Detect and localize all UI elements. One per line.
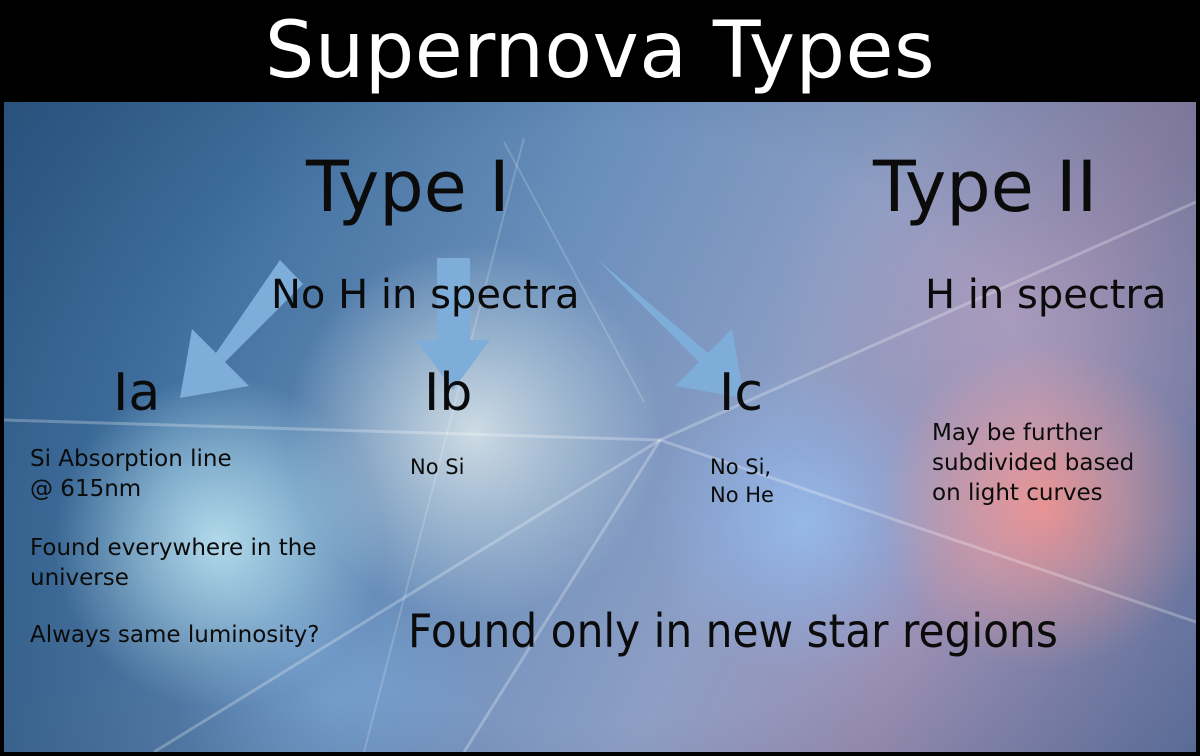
type-ii-heading: Type II <box>873 150 1097 224</box>
type-i-subheading: No H in spectra <box>271 273 580 317</box>
slide-root: Supernova Types <box>0 0 1200 756</box>
type-ii-subheading: H in spectra <box>925 273 1166 317</box>
subtype-ia-note-location: Found everywhere in the universe <box>30 533 317 593</box>
subtype-label-ib: Ib <box>424 365 472 421</box>
title-banner: Supernova Types <box>0 0 1200 102</box>
type-i-heading: Type I <box>306 150 510 224</box>
subtype-label-ic: Ic <box>719 365 763 421</box>
subtype-ib-note: No Si <box>410 453 464 481</box>
footer-text: Found only in new star regions <box>408 606 1058 656</box>
subtype-ic-note: No Si, No He <box>710 453 774 509</box>
subtype-label-ia: Ia <box>113 365 160 421</box>
subtype-ia-note-silicon: Si Absorption line @ 615nm <box>30 444 232 504</box>
type-ii-note: May be further subdivided based on light… <box>932 418 1134 508</box>
subtype-ia-note-luminosity: Always same luminosity? <box>30 620 320 650</box>
page-title: Supernova Types <box>265 11 935 91</box>
